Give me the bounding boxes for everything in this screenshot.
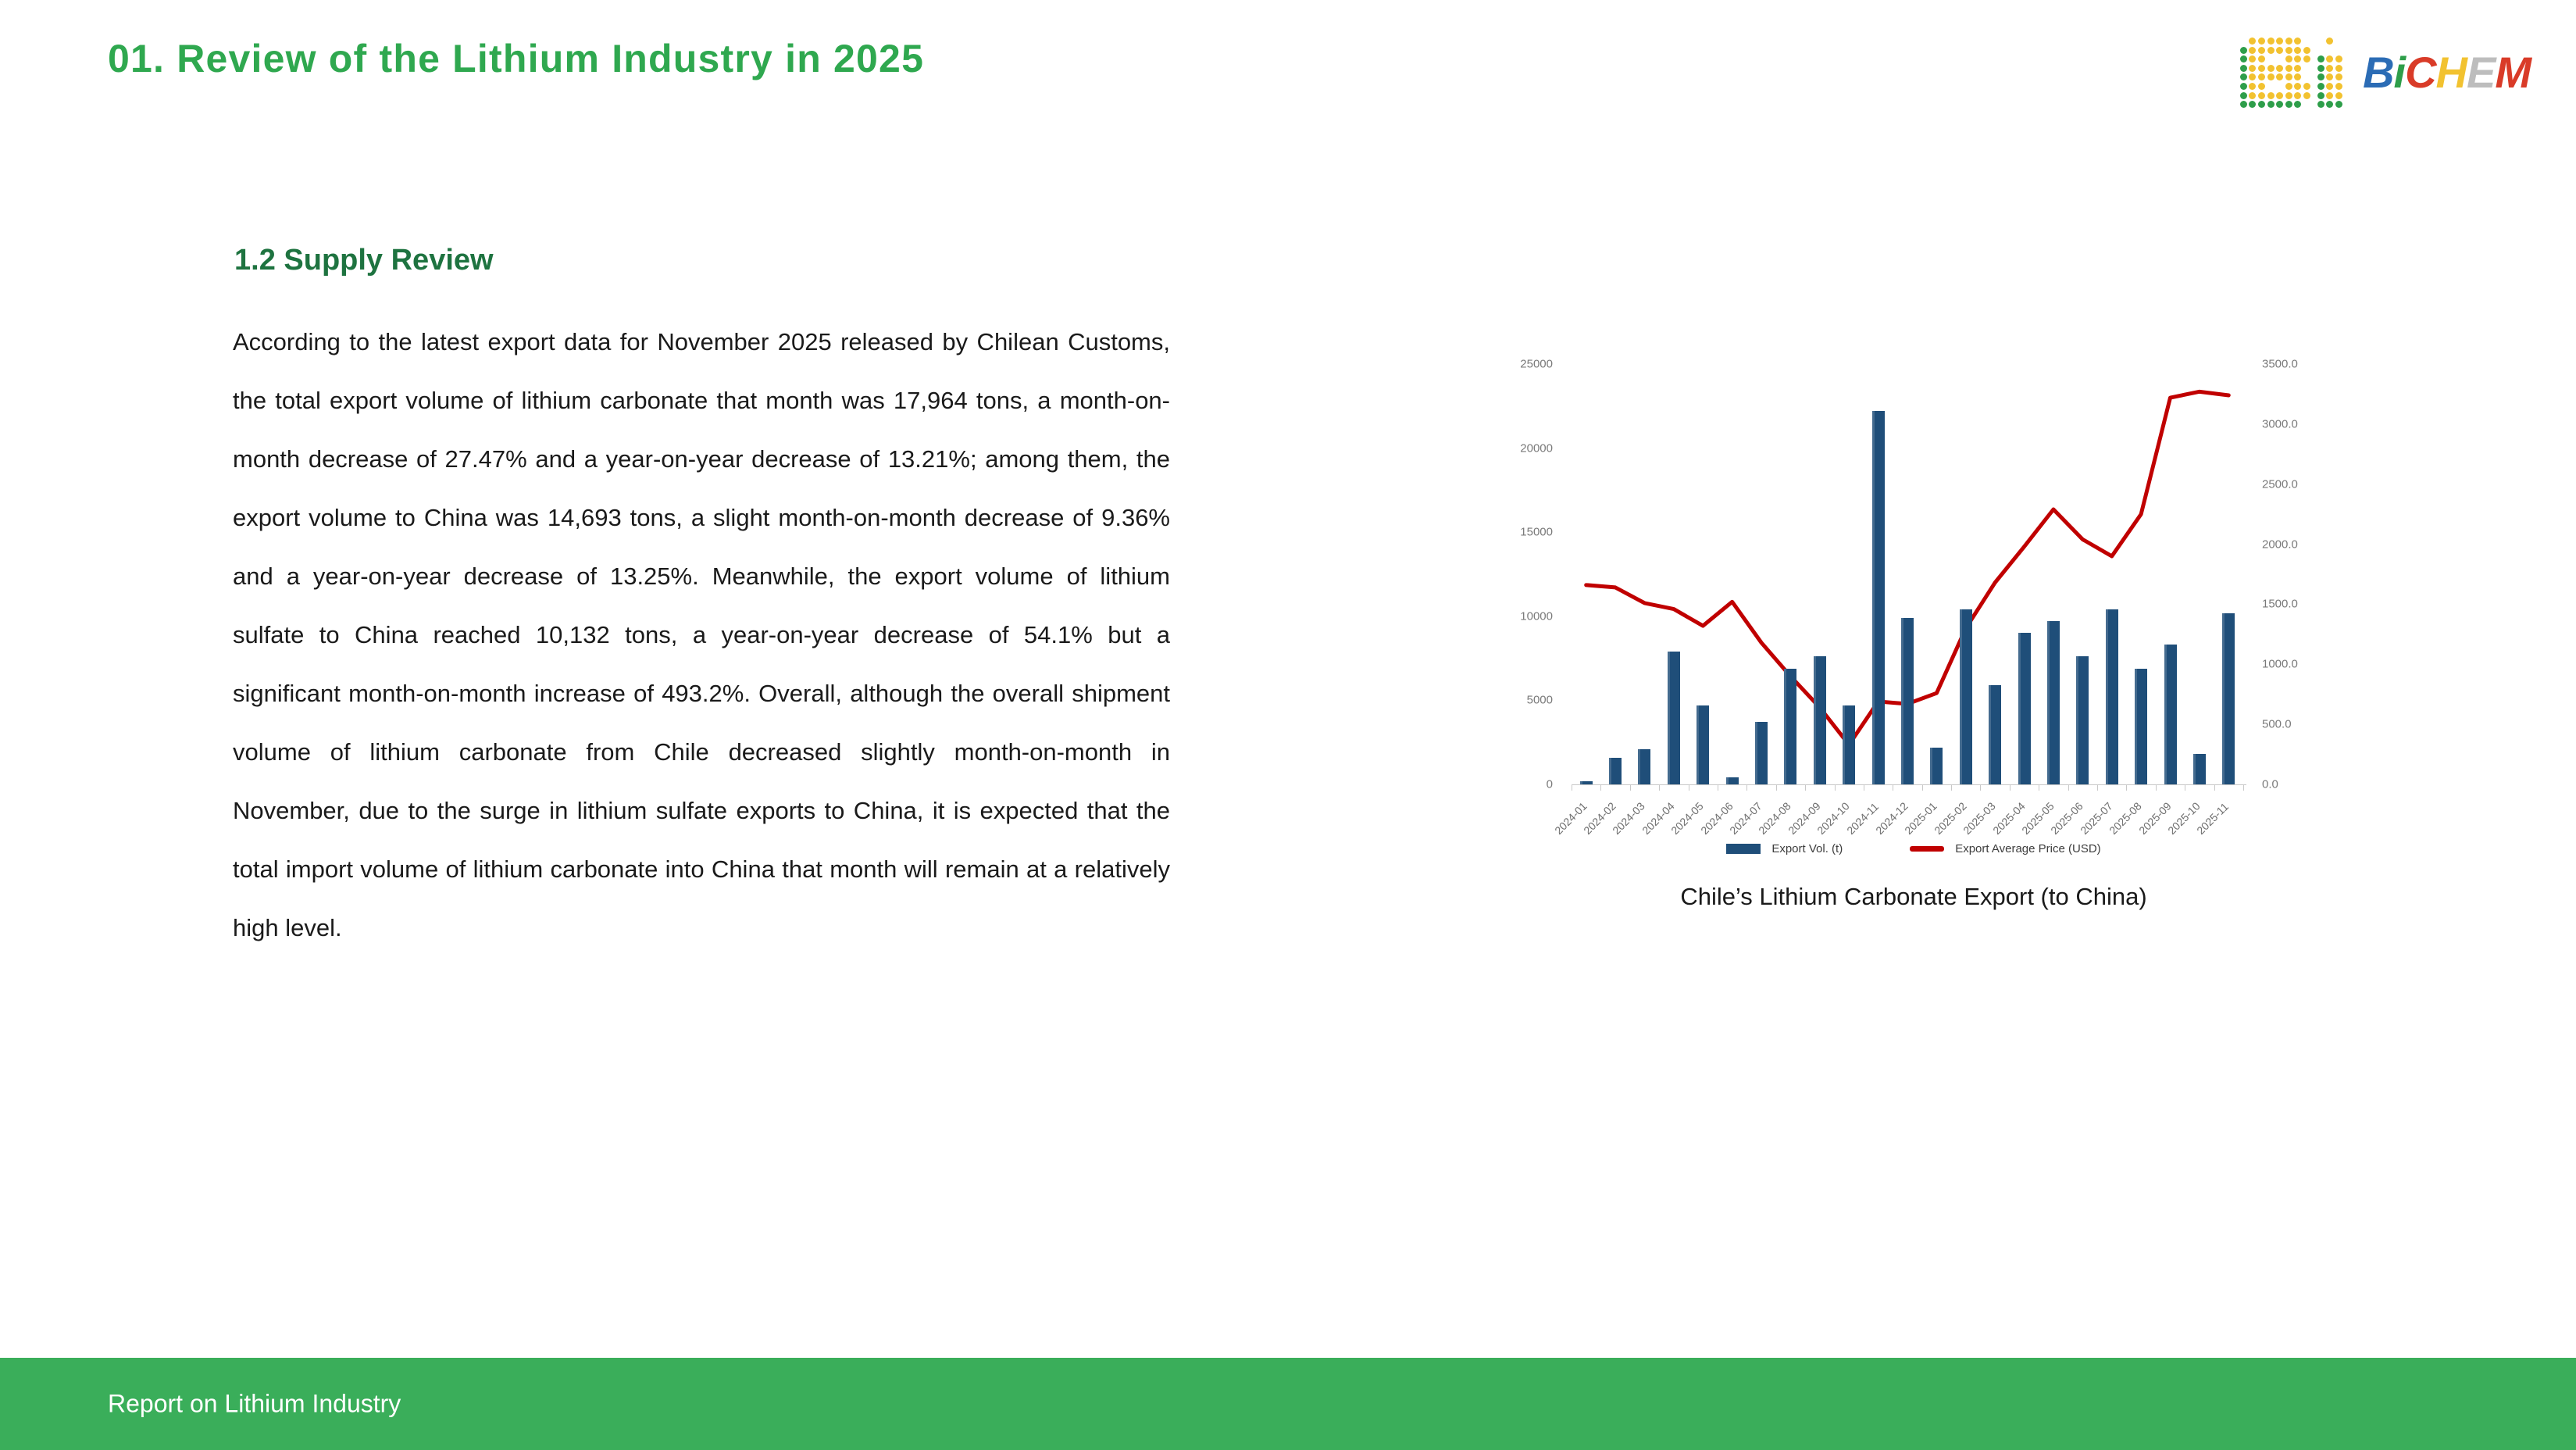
logo-dot: [2285, 55, 2292, 62]
x-axis-tick-label: 2025-06: [2049, 800, 2086, 837]
logo-dot: [2326, 92, 2333, 99]
logo-dot: [2267, 37, 2275, 45]
chart-bar: [1989, 685, 2001, 784]
logo-dot: [2294, 37, 2301, 45]
logo-dot: [2294, 101, 2301, 108]
y-axis-left-tick: 15000: [1520, 526, 1553, 539]
chart-bar: [2135, 669, 2147, 784]
logo-dot: [2267, 92, 2275, 99]
chart-bar: [1843, 705, 1855, 784]
logo-dot: [2303, 65, 2310, 72]
logo-dot: [2303, 37, 2310, 45]
logo-dot: [2317, 37, 2324, 45]
logo-dot: [2294, 65, 2301, 72]
x-axis-tick-label: 2025-04: [1990, 800, 2028, 837]
y-axis-right-tick: 3000.0: [2262, 417, 2298, 430]
y-axis-left-tick: 10000: [1520, 609, 1553, 623]
logo-dot: [2240, 73, 2247, 80]
logo-dot: [2285, 101, 2292, 108]
logo-dot: [2326, 101, 2333, 108]
logo-dot: [2294, 83, 2301, 90]
x-axis-tick-label: 2025-09: [2136, 800, 2174, 837]
logo-dot: [2285, 83, 2292, 90]
chart-bar: [1755, 722, 1768, 784]
chart-bar: [1872, 411, 1885, 784]
body-paragraph: According to the latest export data for …: [233, 312, 1170, 957]
section-heading: 1.2 Supply Review: [234, 244, 494, 277]
chart-bar: [2076, 656, 2089, 784]
logo-dot: [2326, 55, 2333, 62]
logo-dot: [2258, 92, 2265, 99]
logo-letter-i: i: [2394, 48, 2406, 97]
logo-dot: [2317, 65, 2324, 72]
y-axis-right-tick: 500.0: [2262, 718, 2292, 731]
x-axis-tickmark: [1951, 784, 1952, 791]
y-axis-right-tick: 1000.0: [2262, 658, 2298, 671]
logo-dot: [2294, 92, 2301, 99]
logo-dot: [2335, 83, 2342, 90]
logo-dot: [2303, 73, 2310, 80]
logo-dotgrid-i: [2317, 37, 2342, 108]
x-axis-tickmark: [1746, 784, 1747, 791]
logo-dot: [2240, 92, 2247, 99]
logo-dot: [2240, 37, 2247, 45]
logo-dot: [2267, 65, 2275, 72]
logo-dot: [2303, 55, 2310, 62]
logo-dot: [2258, 47, 2265, 54]
logo-dot: [2326, 37, 2333, 45]
logo-dot: [2267, 73, 2275, 80]
x-axis-tickmark: [1893, 784, 1893, 791]
y-axis-left-tick: 20000: [1520, 441, 1553, 455]
logo-letter-b: B: [2363, 48, 2393, 97]
logo-dot: [2335, 55, 2342, 62]
logo-dot: [2249, 37, 2256, 45]
logo-dot: [2317, 55, 2324, 62]
chart-bar: [2164, 645, 2177, 784]
logo-dot: [2294, 47, 2301, 54]
logo-dot: [2335, 37, 2342, 45]
x-axis-labels: 2024-012024-022024-032024-042024-052024-…: [1572, 794, 2246, 880]
x-axis-tick-label: 2025-01: [1903, 800, 1940, 837]
x-axis-tickmark: [2097, 784, 2098, 791]
x-axis-tickmark: [1980, 784, 1981, 791]
chart-bar: [1784, 669, 1796, 784]
logo-dot: [2294, 55, 2301, 62]
x-axis-tickmark: [1776, 784, 1777, 791]
x-axis-tickmark: [1630, 784, 1631, 791]
y-axis-left-tick: 5000: [1527, 694, 1553, 707]
chart-caption: Chile’s Lithium Carbonate Export (to Chi…: [1453, 883, 2374, 911]
x-axis-tickmark: [1835, 784, 1836, 791]
logo-dot: [2240, 55, 2247, 62]
chart-bar: [2047, 621, 2060, 784]
logo-letter-h: H: [2436, 48, 2467, 97]
y-axis-right-tick: 3500.0: [2262, 358, 2298, 371]
chart-legend: Export Vol. (t) Export Average Price (US…: [1453, 842, 2374, 855]
chart-bar: [2193, 754, 2206, 784]
logo-dot: [2276, 101, 2283, 108]
logo-dot: [2335, 65, 2342, 72]
x-axis-tickmark: [1864, 784, 1864, 791]
y-axis-left-tick: 0: [1547, 778, 1553, 791]
logo-dot: [2335, 101, 2342, 108]
x-axis-tick-label: 2024-03: [1611, 800, 1648, 837]
x-axis-tickmark: [2214, 784, 2215, 791]
x-axis-tickmark: [2039, 784, 2039, 791]
slide-footer: Report on Lithium Industry: [0, 1358, 2576, 1450]
logo-dot: [2240, 83, 2247, 90]
x-axis-tickmark: [1922, 784, 1923, 791]
logo-dot: [2285, 65, 2292, 72]
chart-bar: [2018, 633, 2031, 784]
x-axis-line: [1572, 784, 2246, 785]
chart-bar: [1901, 618, 1914, 784]
logo-letter-e: E: [2467, 48, 2495, 97]
logo-dot: [2249, 83, 2256, 90]
logo-dot: [2258, 83, 2265, 90]
chart-bar: [1697, 705, 1709, 784]
logo-dot: [2285, 37, 2292, 45]
x-axis-tickmark: [1718, 784, 1718, 791]
x-axis-tickmark: [1659, 784, 1660, 791]
logo-dot: [2317, 47, 2324, 54]
logo-dot: [2267, 101, 2275, 108]
logo-dot: [2249, 73, 2256, 80]
logo-dot: [2303, 101, 2310, 108]
logo-dot: [2249, 101, 2256, 108]
slide-root: 01. Review of the Lithium Industry in 20…: [0, 0, 2576, 1450]
x-axis-tickmark: [2156, 784, 2157, 791]
logo-dot: [2335, 47, 2342, 54]
y-axis-left-tick: 25000: [1520, 358, 1553, 371]
logo-dot: [2258, 37, 2265, 45]
y-axis-left: 0500010000150002000025000: [1453, 336, 1562, 820]
logo-dot: [2317, 92, 2324, 99]
logo-dot: [2317, 83, 2324, 90]
y-axis-right-tick: 0.0: [2262, 778, 2278, 791]
x-axis-tickmark: [2126, 784, 2127, 791]
logo-dot: [2249, 92, 2256, 99]
footer-label: Report on Lithium Industry: [108, 1390, 401, 1419]
logo-dot: [2276, 55, 2283, 62]
chart-bar: [2222, 613, 2235, 785]
logo-dot: [2258, 101, 2265, 108]
logo-dot: [2276, 92, 2283, 99]
logo-dot: [2267, 47, 2275, 54]
legend-swatch-bar-icon: [1726, 844, 1761, 854]
logo-dot: [2335, 73, 2342, 80]
legend-item-price: Export Average Price (USD): [1910, 842, 2100, 855]
chart-bar: [2106, 609, 2118, 784]
x-axis-tickmark: [1572, 784, 1572, 791]
legend-swatch-line-icon: [1910, 846, 1944, 852]
x-axis-tickmark: [2185, 784, 2185, 791]
logo-dot: [2303, 47, 2310, 54]
page-title: 01. Review of the Lithium Industry in 20…: [108, 36, 924, 81]
logo-dot: [2240, 101, 2247, 108]
plot-region: [1572, 364, 2243, 784]
y-axis-right-tick: 2500.0: [2262, 477, 2298, 491]
logo-dot: [2317, 73, 2324, 80]
logo-dot: [2303, 92, 2310, 99]
logo-dot: [2258, 73, 2265, 80]
logo-dot: [2240, 65, 2247, 72]
legend-item-volume: Export Vol. (t): [1726, 842, 1843, 855]
y-axis-right: 0.0500.01000.01500.02000.02500.03000.035…: [2250, 336, 2367, 820]
x-axis-tick-label: 2024-06: [1698, 800, 1736, 837]
x-axis-tickmark: [2243, 784, 2244, 791]
logo-dot: [2276, 37, 2283, 45]
chart-bar: [1930, 748, 1943, 784]
chart-area: 0500010000150002000025000 0.0500.01000.0…: [1453, 336, 2374, 836]
logo-letter-c: C: [2405, 48, 2435, 97]
chart-bar: [1638, 749, 1650, 784]
legend-label-price: Export Average Price (USD): [1955, 842, 2100, 855]
logo-dot: [2276, 65, 2283, 72]
logo-dot: [2258, 55, 2265, 62]
x-axis-tickmark: [1805, 784, 1806, 791]
chart-panel: 0500010000150002000025000 0.0500.01000.0…: [1453, 336, 2374, 914]
logo-dot: [2335, 92, 2342, 99]
logo-dot: [2240, 47, 2247, 54]
logo-dot: [2326, 83, 2333, 90]
x-axis-tick-label: 2024-08: [1757, 800, 1794, 837]
logo-dotgrid-b: [2240, 37, 2310, 108]
logo-dot: [2326, 65, 2333, 72]
logo-dot: [2326, 73, 2333, 80]
x-axis-tickmark: [2068, 784, 2069, 791]
logo-dot: [2317, 101, 2324, 108]
logo-dot: [2276, 73, 2283, 80]
logo-dot: [2285, 92, 2292, 99]
logo-dot: [2285, 73, 2292, 80]
logo-dot: [2326, 47, 2333, 54]
logo-dot: [2294, 73, 2301, 80]
chart-bar: [1726, 777, 1739, 784]
logo-letter-m: M: [2495, 48, 2531, 97]
logo-dot: [2303, 83, 2310, 90]
logo-dot: [2249, 55, 2256, 62]
logo-dot: [2267, 83, 2275, 90]
chart-bar: [1609, 758, 1622, 784]
y-axis-right-tick: 1500.0: [2262, 598, 2298, 611]
logo-dot: [2267, 55, 2275, 62]
bichem-logo: BiCHEM: [2240, 37, 2531, 108]
x-axis-tickmark: [1689, 784, 1689, 791]
x-axis-tickmark: [2010, 784, 2010, 791]
logo-dot: [2276, 47, 2283, 54]
legend-label-volume: Export Vol. (t): [1771, 842, 1843, 855]
x-axis-tickmark: [1600, 784, 1601, 791]
logo-dot: [2249, 65, 2256, 72]
chart-bar: [1580, 781, 1593, 784]
y-axis-right-tick: 2000.0: [2262, 537, 2298, 551]
logo-dot: [2249, 47, 2256, 54]
slide-header: 01. Review of the Lithium Industry in 20…: [0, 0, 2576, 141]
logo-dot: [2258, 65, 2265, 72]
chart-bar: [1668, 652, 1680, 784]
logo-dot-matrix-icon: [2240, 37, 2342, 108]
logo-wordmark: BiCHEM: [2363, 51, 2531, 95]
logo-dot: [2285, 47, 2292, 54]
logo-dot: [2276, 83, 2283, 90]
chart-bar: [1814, 656, 1826, 784]
chart-bar: [1960, 609, 1972, 784]
